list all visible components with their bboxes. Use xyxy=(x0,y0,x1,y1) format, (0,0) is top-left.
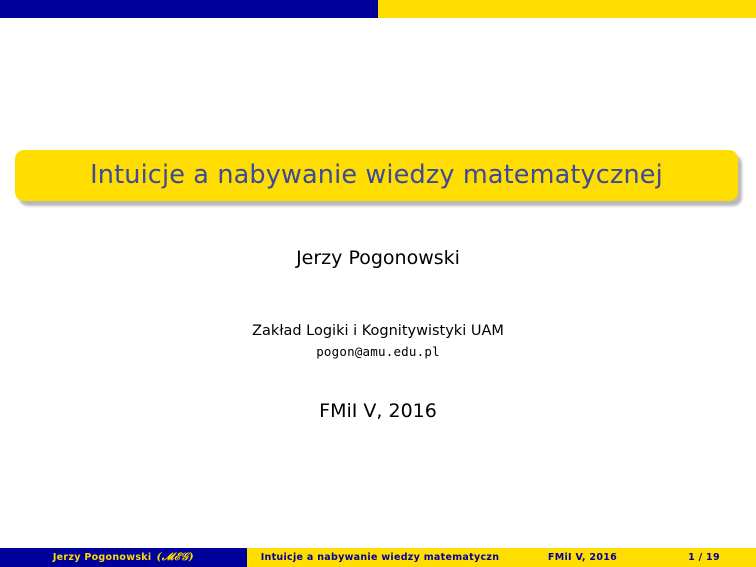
footer-author-section: Jerzy Pogonowski (𝓜ℰ𝒢) xyxy=(0,548,247,567)
title-slide-metadata: Jerzy Pogonowski Zakład Logiki i Kognity… xyxy=(0,238,756,423)
presentation-date: FMiI V, 2016 xyxy=(0,359,756,423)
footer-date-label: FMiI V, 2016 xyxy=(513,552,652,563)
title-block-panel: Intuicje a nabywanie wiedzy matematyczne… xyxy=(15,150,738,201)
presentation-slide: Intuicje a nabywanie wiedzy matematyczne… xyxy=(0,0,756,567)
footer-page-number: 1 / 19 xyxy=(652,552,756,563)
footer-title-label: Intuicje a nabywanie wiedzy matematyczn xyxy=(247,552,513,563)
author-email: pogon@amu.edu.pl xyxy=(0,340,756,359)
author-name: Jerzy Pogonowski xyxy=(0,238,756,270)
footer-info-section: FMiI V, 2016 1 / 19 xyxy=(513,548,756,567)
slide-header-bar xyxy=(0,0,756,18)
header-bar-right-block xyxy=(378,0,756,18)
footer-title-section: Intuicje a nabywanie wiedzy matematyczn xyxy=(247,548,513,567)
footer-affiliation-label: (𝓜ℰ𝒢) xyxy=(151,551,194,564)
header-bar-left-block xyxy=(0,0,378,18)
page-title: Intuicje a nabywanie wiedzy matematyczne… xyxy=(90,163,663,189)
institute-name: Zakład Logiki i Kognitywistyki UAM xyxy=(0,270,756,340)
footer-author-label: Jerzy Pogonowski xyxy=(53,552,152,563)
slide-footer-bar: Jerzy Pogonowski (𝓜ℰ𝒢) Intuicje a nabywa… xyxy=(0,548,756,567)
title-block: Intuicje a nabywanie wiedzy matematyczne… xyxy=(15,150,739,202)
